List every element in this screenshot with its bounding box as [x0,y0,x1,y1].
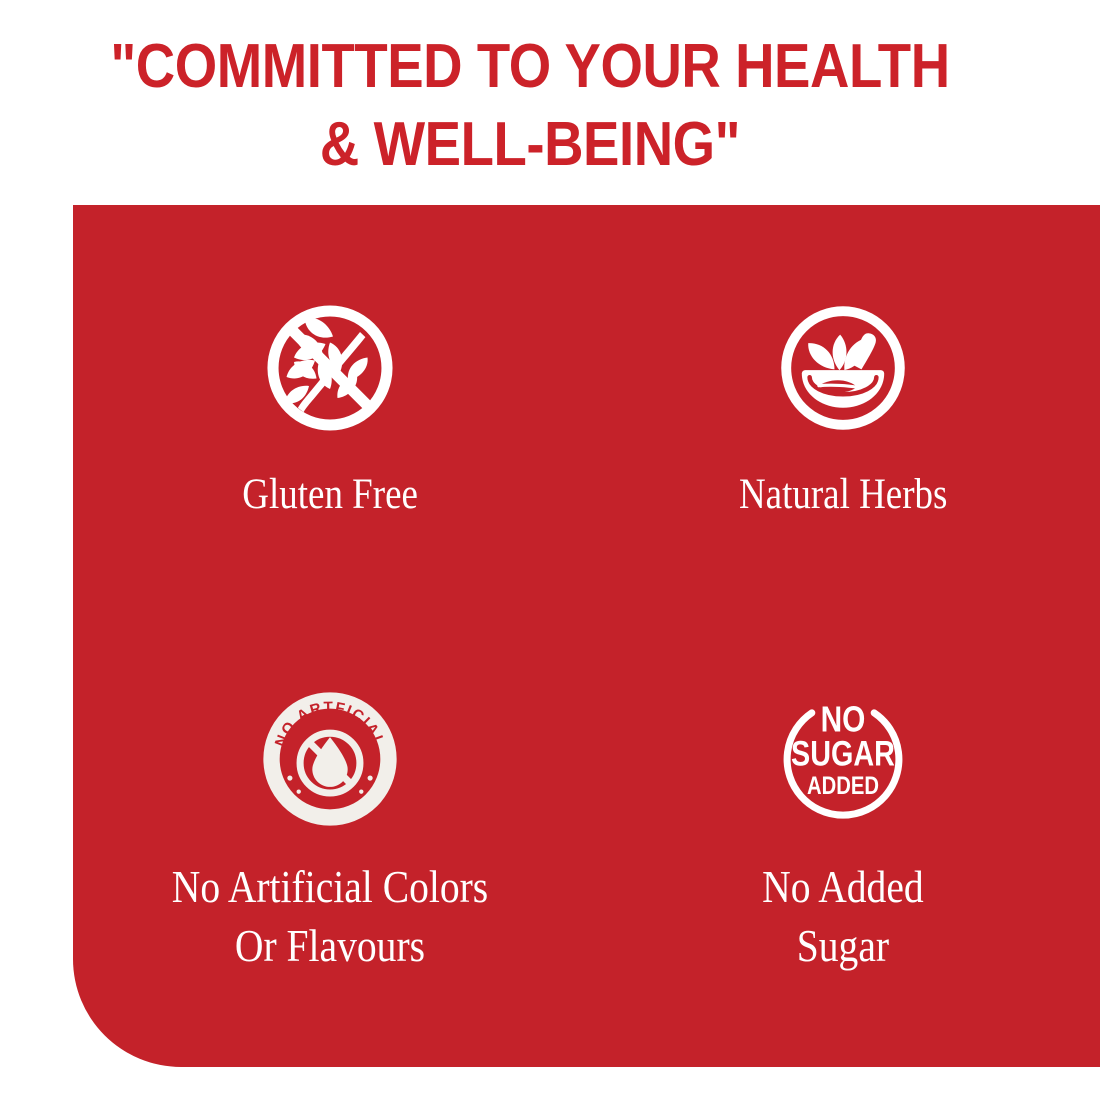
badge-sugar-line-3: ADDED [807,772,879,799]
feature-item-natural-herbs: Natural Herbs [587,205,1100,636]
no-gluten-icon [255,293,405,443]
poster-root: "COMMITTED TO YOUR HEALTH & WELL-BEING" [0,0,1100,1100]
mortar-pestle-herbs-icon [768,293,918,443]
feature-label-no-added-sugar: No Added Sugar [762,857,924,975]
feature-item-gluten-free: Gluten Free [73,205,587,636]
page-title-line-1: "COMMITTED TO YOUR HEALTH [64,28,997,106]
page-title: "COMMITTED TO YOUR HEALTH & WELL-BEING" [64,28,997,184]
features-panel: Gluten Free [73,205,1100,1067]
feature-label-gluten-free: Gluten Free [242,467,418,522]
feature-label-no-artificial-colors: No Artificial Colors Or Flavours [172,857,488,975]
feature-label-natural-herbs: Natural Herbs [739,467,947,522]
badge-sugar-line-2: SUGAR [791,734,895,773]
feature-item-no-added-sugar: NO SUGAR ADDED No Added Sugar [587,636,1100,1067]
no-artificial-colors-badge-icon: NO ARTFICIAL COLORS [262,691,398,827]
feature-item-no-artificial-colors: NO ARTFICIAL COLORS [73,636,587,1067]
no-sugar-added-badge-icon: NO SUGAR ADDED [775,691,911,827]
page-title-line-2: & WELL-BEING" [64,106,997,184]
features-grid: Gluten Free [73,205,1100,1067]
